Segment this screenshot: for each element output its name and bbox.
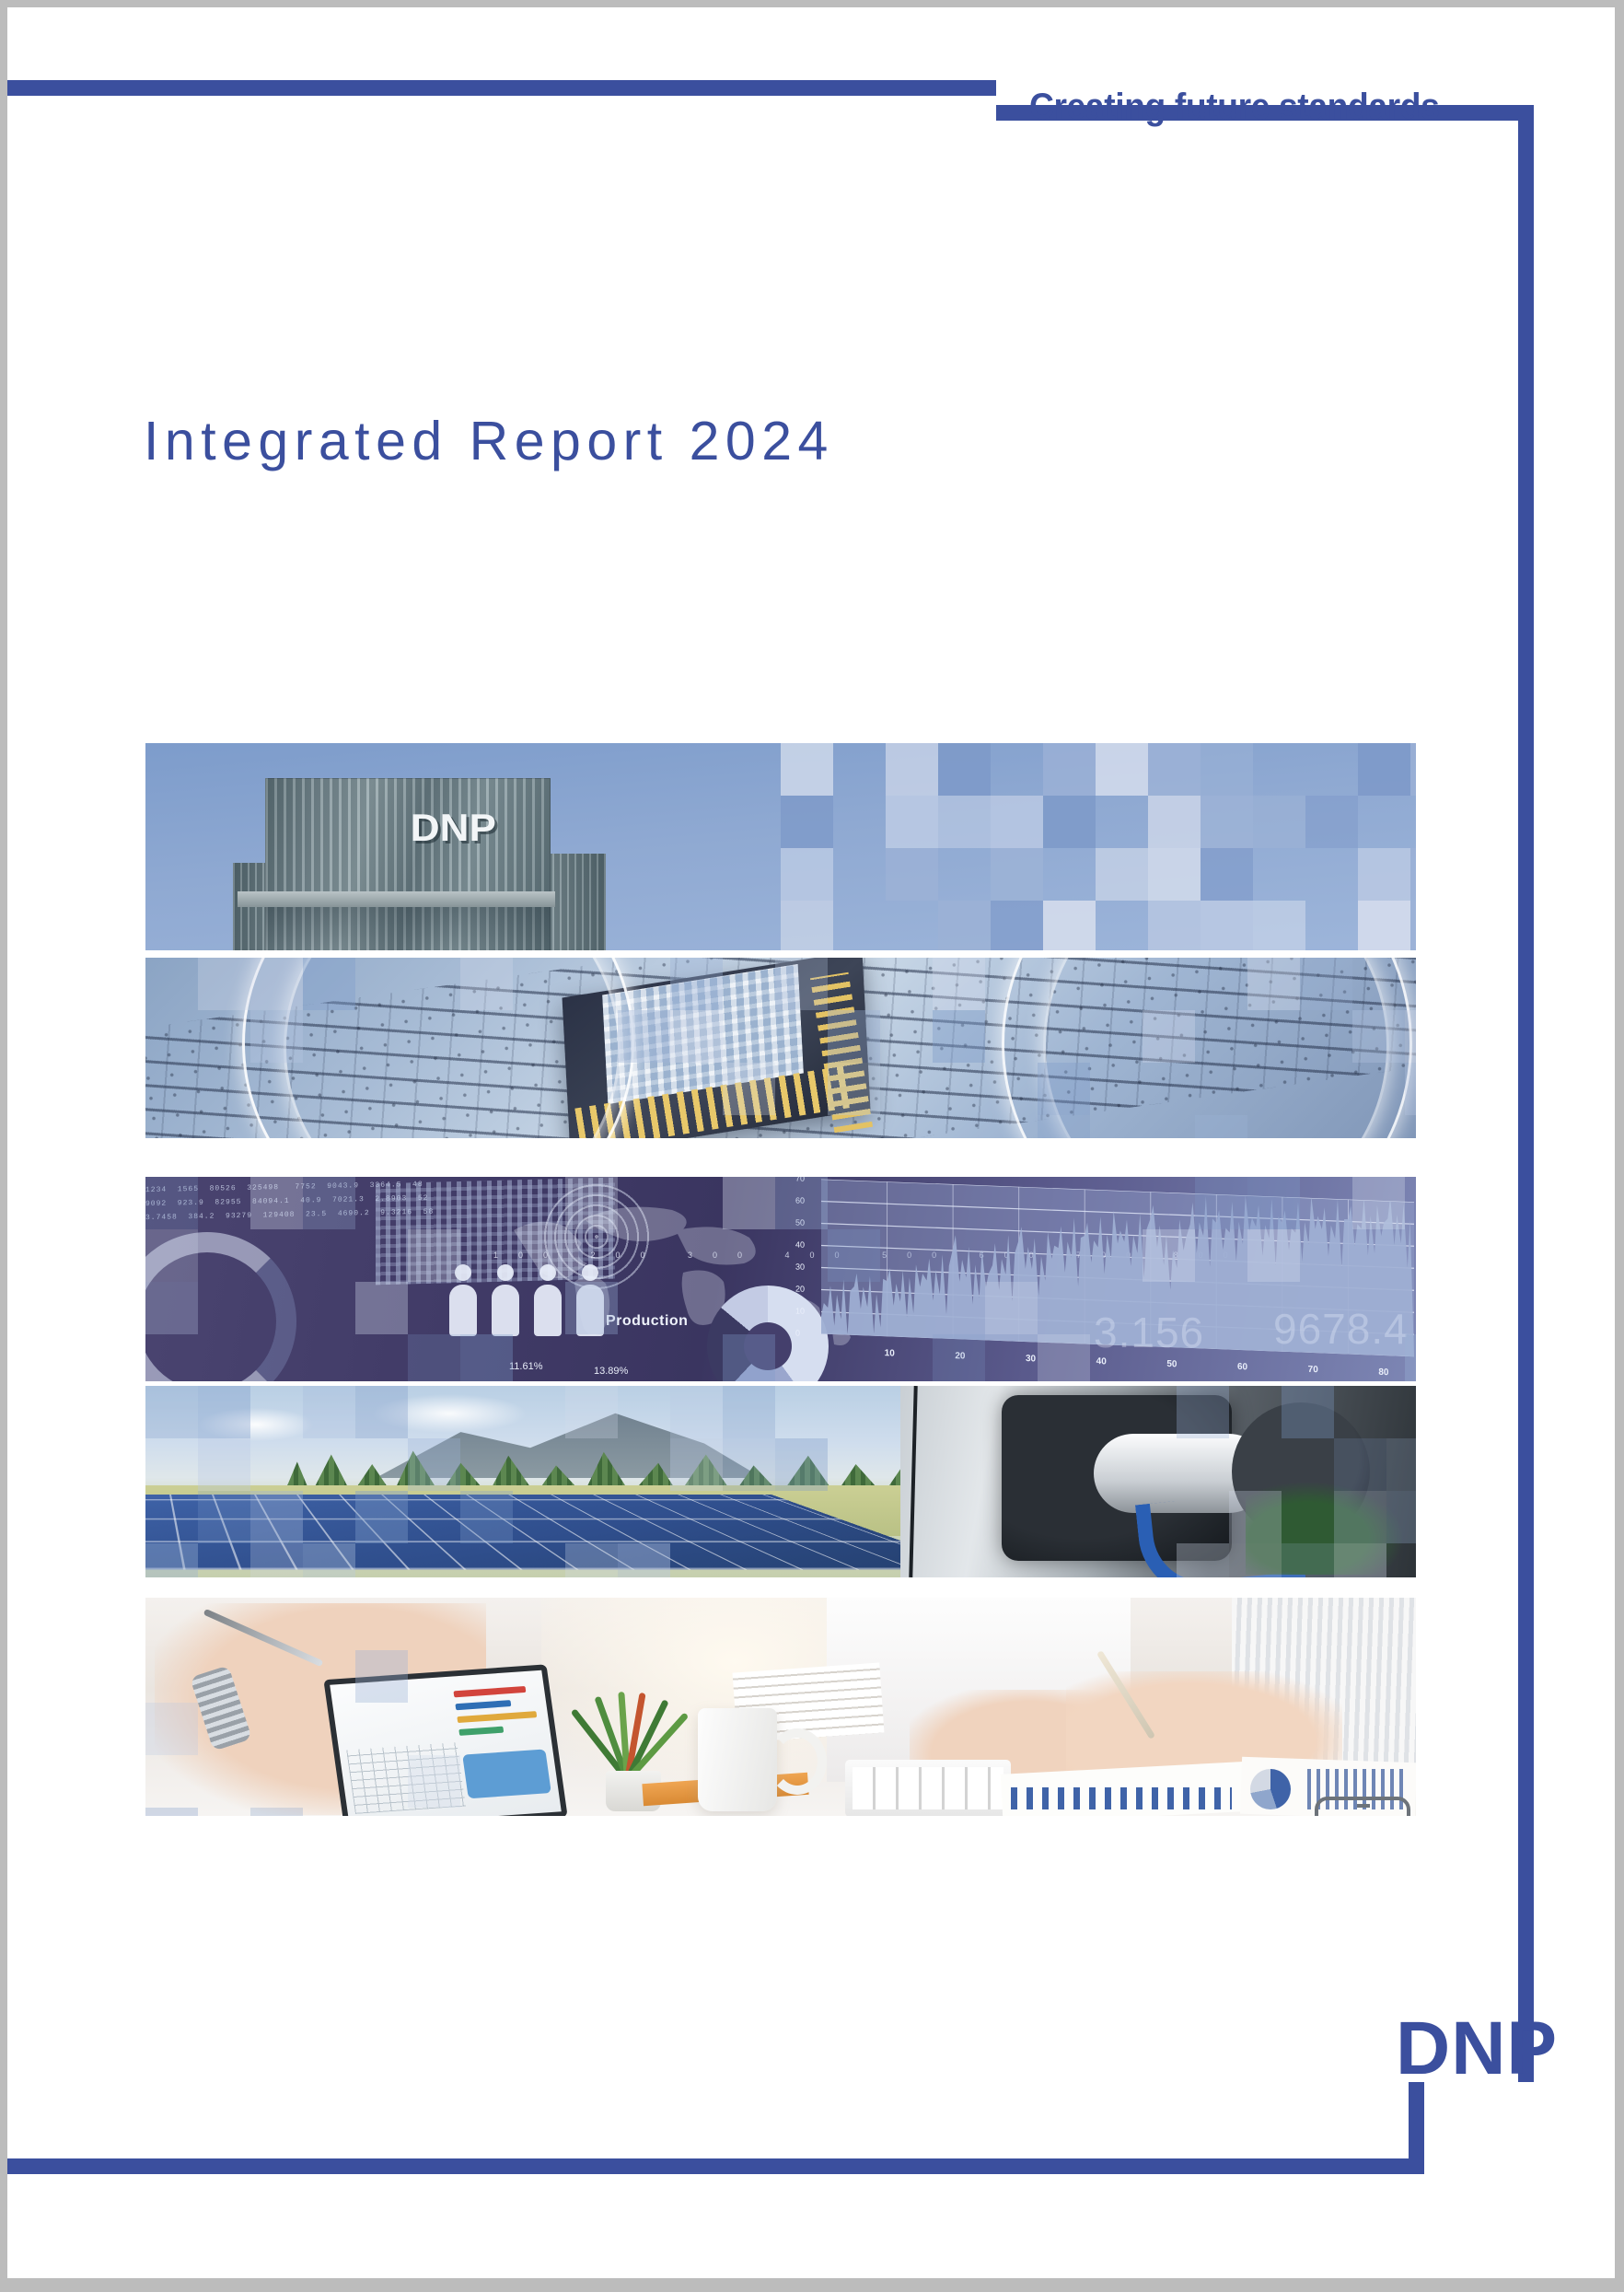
chart-y-tick: 50 (795, 1217, 805, 1227)
building-signage: DNP (411, 806, 496, 850)
dnp-logo: DNP (1396, 2006, 1558, 2092)
eyeglasses (1315, 1797, 1410, 1816)
foliage (1246, 1483, 1402, 1575)
cover-page: Creating future standards Integrated Rep… (0, 0, 1624, 2292)
coffee-mug (698, 1708, 777, 1811)
chart-x-tick: 50 (1166, 1359, 1177, 1369)
page-title: Integrated Report 2024 (144, 410, 834, 472)
chart-x-tick: 30 (1026, 1354, 1036, 1364)
chart-y-tick: 60 (795, 1195, 805, 1204)
ghost-number-b: 9678.4 (1273, 1304, 1409, 1354)
chart-x-tick: 60 (1237, 1362, 1247, 1372)
band-office (145, 1598, 1416, 1816)
light-arc-right-inner (1043, 958, 1389, 1138)
band-headquarters: DNP (145, 743, 1416, 950)
chart-y-tick: 20 (795, 1284, 805, 1293)
production-label: Production (606, 1313, 688, 1330)
bottom-right-stub-rule (1409, 2082, 1424, 2174)
people-pictograms (449, 1264, 604, 1338)
percent-label-b: 13.89% (594, 1366, 628, 1377)
bottom-rule (7, 2158, 1424, 2174)
chart-x-tick: 40 (1096, 1356, 1107, 1367)
band-data: 1234 1565 80526 325498 7752 9043.9 3364.… (145, 1177, 1416, 1381)
band-energy (145, 1386, 1416, 1577)
chart-y-tick: 30 (795, 1262, 805, 1271)
chart-y-tick: 70 (795, 1177, 805, 1183)
chart-y-tick: 10 (795, 1306, 805, 1315)
tower-belt (238, 891, 555, 907)
chart-x-tick: 10 (885, 1348, 895, 1358)
report-pie-chart (1250, 1769, 1291, 1809)
chart-x-tick: 80 (1378, 1367, 1388, 1378)
right-vertical-rule (1518, 105, 1534, 2082)
report-bar-chart (1011, 1773, 1232, 1809)
light-arc-left-inner (284, 958, 621, 1138)
tablet-spreadsheet (346, 1742, 466, 1814)
page-sheet: Creating future standards Integrated Rep… (7, 7, 1615, 2278)
mug-handle (768, 1728, 827, 1795)
top-rule (7, 80, 996, 96)
tower-shadow (265, 907, 551, 950)
chart-x-tick: 20 (955, 1351, 965, 1361)
percent-label-a: 11.61% (509, 1361, 543, 1372)
ghost-number-a: 3.156 (1094, 1308, 1204, 1357)
chart-y-tick: 40 (795, 1239, 805, 1249)
band-semiconductor (145, 958, 1416, 1138)
tablet-device (323, 1664, 567, 1816)
tagline: Creating future standards (1029, 87, 1439, 128)
calculator (845, 1760, 1011, 1816)
chart-y-tick: 0 (795, 1328, 800, 1337)
chart-x-tick: 70 (1308, 1365, 1318, 1375)
